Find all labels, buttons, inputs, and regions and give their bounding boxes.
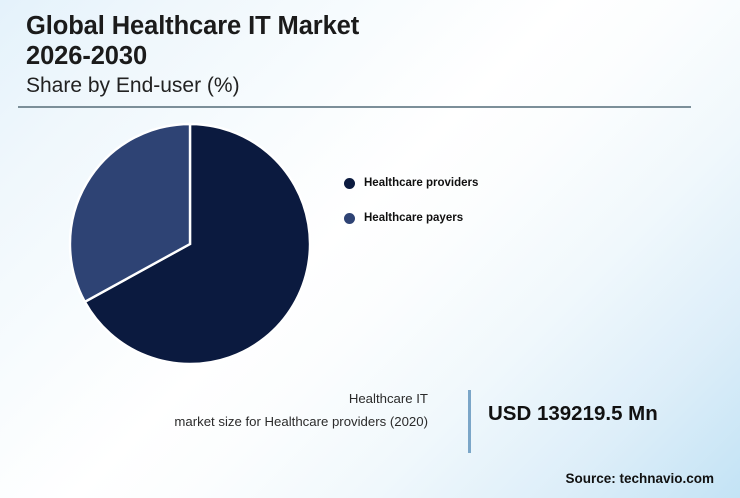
- stat-callout: Healthcare IT market size for Healthcare…: [90, 388, 710, 458]
- stat-divider: [468, 390, 471, 453]
- stat-description-line-2: market size for Healthcare providers (20…: [108, 411, 428, 434]
- legend-label: Healthcare providers: [364, 177, 478, 189]
- infographic-canvas: Global Healthcare IT Market 2026-2030 Sh…: [0, 0, 740, 498]
- legend-swatch-icon: [344, 213, 355, 224]
- legend-item-healthcare-providers[interactable]: Healthcare providers: [344, 172, 478, 194]
- legend-swatch-icon: [344, 178, 355, 189]
- stat-description-line-1: Healthcare IT: [108, 388, 428, 411]
- stat-value: USD 139219.5 Mn: [488, 402, 658, 426]
- source-attribution: Source: technavio.com: [565, 471, 714, 486]
- stat-description: Healthcare IT market size for Healthcare…: [108, 388, 428, 433]
- legend-label: Healthcare payers: [364, 212, 463, 224]
- chart-legend: Healthcare providers Healthcare payers: [344, 172, 478, 242]
- legend-item-healthcare-payers[interactable]: Healthcare payers: [344, 207, 478, 229]
- pie-slice-group: [70, 124, 310, 364]
